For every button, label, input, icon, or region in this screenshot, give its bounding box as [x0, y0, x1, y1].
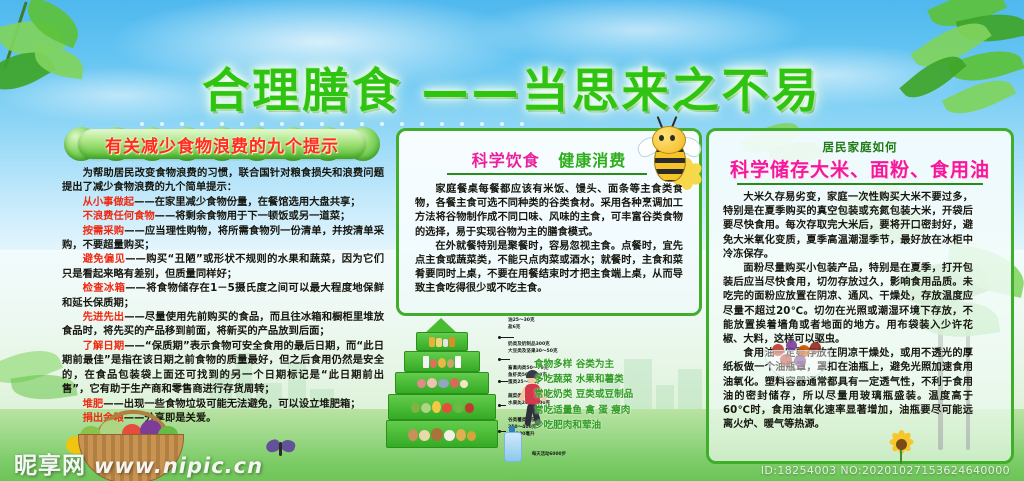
fruit-bowl-image — [762, 336, 834, 384]
pyramid-tier-meat-fish-egg — [395, 372, 489, 394]
watermark-brand: 昵享网 — [14, 453, 86, 479]
left-panel-heading: 有关减少食物浪费的九个提示 — [62, 126, 382, 162]
middle-title-part2: 健康消费 — [558, 151, 626, 170]
tip-keyword: 了解日期 — [83, 340, 125, 352]
tier-food-icons — [408, 428, 476, 441]
glass-bowl — [764, 350, 832, 380]
right-panel-body: 大米久存易劣变，家庭一次性购买大米不要过多，特别是在夏季购买的真空包装或充氮包装… — [723, 191, 973, 432]
pyramid-tier-vegetable-fruit — [388, 394, 496, 420]
right-paragraph-1: 面粉尽量购买小包装产品，特别是在夏季，打开包装后应当尽快食用，切勿存放过久，影响… — [723, 262, 973, 347]
left-tip-2: 按需采购——应当理性购物，将所需食物列一份清单，并按清单采购，不要超量购买； — [62, 224, 384, 253]
tip-keyword: 从小事做起 — [83, 196, 134, 208]
middle-title-part1: 科学饮食 — [472, 151, 540, 170]
pyramid-label-oil-salt-1: 盐6克 — [508, 325, 520, 331]
tip-keyword: 按需采购 — [83, 225, 125, 237]
left-tip-4: 检查冰箱——将食物储存在1－5摄氏度之间可以最大程度地保鲜和延长保质期； — [62, 281, 384, 310]
tier-food-icons — [429, 337, 455, 347]
pyramid-tier-dairy-soy — [404, 351, 480, 372]
watermark: 昵享网www.nipic.cn — [14, 446, 263, 480]
middle-paragraph-1: 在外就餐特别是聚餐时，容易忽视主食。点餐时，宜先点主食或蔬菜类，不能只点肉菜或酒… — [415, 240, 683, 297]
right-panel-title: 科学储存大米、面粉、食用油 — [709, 155, 1011, 182]
pyramid-label-dairy-soy-0: 奶类及奶制品300克 — [508, 342, 550, 348]
tip-text: ——在家里减少食物份量，在餐馆选用大盘共享； — [134, 196, 361, 208]
left-panel-body: 为帮助居民改变食物浪费的习惯，联合国针对粮食损失和浪费问题提出了减少食物浪费的九… — [62, 166, 384, 425]
middle-panel-body: 家庭餐桌每餐都应该有米饭、馒头、面条等主食类食物，各餐主食可选不同种类的谷类食材… — [415, 183, 683, 297]
right-panel-subtitle: 居民家庭如何 — [709, 139, 1011, 155]
pyramid-label-dairy-soy-1: 大豆类及坚果30～50克 — [508, 349, 558, 355]
middle-title-underline — [447, 173, 647, 175]
food-pyramid-chart — [386, 318, 496, 448]
left-tip-0: 从小事做起——在家里减少食物份量，在餐馆选用大盘共享； — [62, 195, 384, 209]
bee-eye-right — [670, 135, 675, 141]
tier-food-icons — [417, 378, 468, 388]
left-tip-3: 避免偏见——购买“丑陋”或形状不规则的水果和蔬菜，因为它们只是看起来略有差别，但… — [62, 252, 384, 281]
butterfly-wing-right — [279, 438, 296, 454]
poster-title: 合理膳食 ——当思来之不易 — [0, 52, 1024, 121]
tip-keyword: 检查冰箱 — [83, 282, 126, 294]
left-tip-6: 了解日期——“保质期”表示食物可安全食用的最后日期，而“此日期前最佳”是指在该日… — [62, 339, 384, 397]
guideline-3: 常吃适量鱼 禽 蛋 瘦肉 — [534, 403, 684, 418]
tip-keyword: 先进先出 — [83, 311, 125, 323]
guideline-4: 少吃肥肉和荤油 — [534, 418, 684, 433]
bee-eye-left — [659, 135, 664, 141]
poster-canvas: 合理膳食 ——当思来之不易 有关减少食物浪费的九个提示 为帮助居民改变食物浪费的… — [0, 0, 1024, 481]
tip-keyword: 不浪费任何食物 — [83, 210, 155, 222]
right-title-underline — [737, 183, 983, 185]
sunflower-stem — [900, 449, 902, 464]
left-tip-1: 不浪费任何食物——将剩余食物用于下一顿饭或另一道菜； — [62, 209, 384, 223]
guideline-0: 食物多样 谷类为主 — [534, 357, 684, 372]
middle-paragraph-0: 家庭餐桌每餐都应该有米饭、馒头、面条等主食类食物，各餐主食可选不同种类的谷类食材… — [415, 183, 683, 240]
butterfly-body — [279, 442, 282, 456]
dietary-guidelines-list: 食物多样 谷类为主 多吃蔬菜 水果和薯类 常吃奶类 豆类或豆制品 常吃适量鱼 禽… — [534, 357, 684, 433]
right-paragraph-2: 食用油一定要存放在阴凉干燥处，或用不透光的厚纸板做一个油瓶罩，罩扣在油瓶上，避免… — [723, 347, 973, 432]
watermark-site: www.nipic.cn — [94, 454, 263, 478]
tip-keyword: 避免偏见 — [83, 253, 126, 265]
watermark-id-line: ID:18254003 NO:20201027153624640000 — [761, 464, 1010, 477]
tip-text: ——将剩余食物用于下一顿饭或另一道菜； — [155, 210, 351, 222]
pyramid-tier-oil-salt — [416, 332, 468, 351]
pyramid-tier-grain — [386, 420, 498, 448]
left-panel-heading-text: 有关减少食物浪费的九个提示 — [105, 132, 339, 157]
pyramid-label-oil-salt-0: 油25～30克 — [508, 318, 535, 324]
tier-food-icons — [423, 356, 461, 368]
tier-food-icons — [411, 401, 474, 413]
guideline-2: 常吃奶类 豆类或豆制品 — [534, 387, 684, 402]
left-intro-paragraph: 为帮助居民改变食物浪费的习惯，联合国针对粮食损失和浪费问题提出了减少食物浪费的九… — [62, 166, 384, 195]
sunflower-icon — [886, 430, 916, 464]
butterfly-icon — [266, 438, 296, 460]
bee-icon — [640, 118, 706, 190]
left-tip-5: 先进先出——尽量使用先前购买的食品，而且往冰箱和橱柜里堆放食品时，将先买的产品移… — [62, 310, 384, 339]
pyramid-walk-note: 每天活动6000步 — [470, 452, 566, 457]
sunflower-center — [896, 439, 907, 450]
right-paragraph-0: 大米久存易劣变，家庭一次性购买大米不要过多，特别是在夏季购买的真空包装或充氮包装… — [723, 191, 973, 262]
bee-head — [652, 126, 686, 154]
guideline-1: 多吃蔬菜 水果和薯类 — [534, 372, 684, 387]
right-panel: 居民家庭如何 科学储存大米、面粉、食用油 大米久存易劣变，家庭一次性购买大米不要… — [706, 128, 1014, 464]
